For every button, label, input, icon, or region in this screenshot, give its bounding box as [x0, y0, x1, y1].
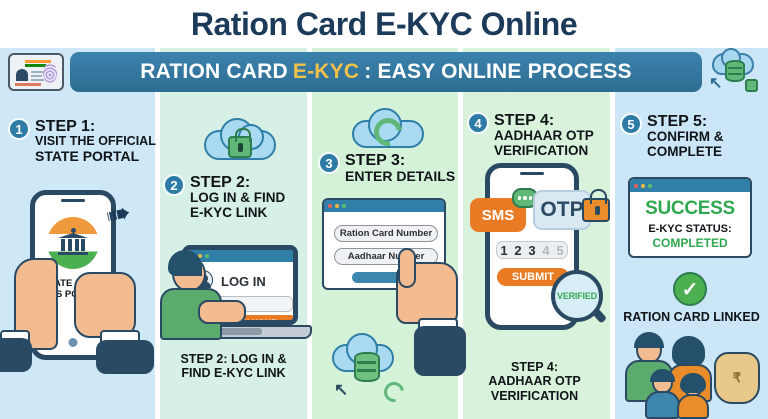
banner-text-after: : EASY ONLINE PROCESS	[364, 60, 632, 84]
step-3-title-line1: STEP 3:	[345, 152, 455, 169]
step-1-title-line2: VISIT THE OFFICIAL	[35, 135, 156, 149]
step-1-badge: 1	[8, 118, 30, 140]
maximize-dot-icon	[648, 184, 652, 188]
phone-notch	[520, 172, 544, 175]
browser-titlebar	[187, 250, 293, 262]
check-circle-icon: ✓	[673, 272, 707, 306]
step-2-person-hair	[168, 250, 202, 276]
verified-label: VERIFIED	[557, 291, 597, 301]
step-2-header: 2 STEP 2: LOG IN & FIND E-KYC LINK	[163, 174, 305, 220]
phone-notch	[61, 199, 85, 202]
step-1-right-hand	[74, 272, 136, 338]
step-3-title: STEP 3: ENTER DETAILS	[345, 152, 455, 184]
step-4-title-line3: VERIFICATION	[494, 144, 594, 159]
otp-digit-5: 5	[553, 243, 567, 258]
step-2-title-line3: E-KYC LINK	[190, 206, 285, 221]
ekyc-status-value: COMPLETED	[634, 236, 746, 250]
step-5-header: 5 STEP 5: CONFIRM & COMPLETE	[620, 113, 766, 159]
ration-card-number-input[interactable]: Ration Card Number	[334, 225, 438, 242]
family-boy-body	[645, 391, 680, 419]
cloud-lock-icon	[204, 120, 276, 172]
page-title: Ration Card E-KYC Online	[0, 0, 768, 48]
family-girl-hair	[680, 373, 706, 393]
step-1-title-line1: STEP 1:	[35, 118, 156, 135]
success-window: SUCCESS E-KYC STATUS: COMPLETED	[628, 177, 752, 258]
cloud-database-sync-icon: ↖	[708, 51, 760, 93]
otp-digit-2: 2	[511, 243, 525, 258]
step-3-badge: 3	[318, 152, 340, 174]
banner-text-before: RATION CARD	[140, 60, 288, 84]
otp-digit-3: 3	[525, 243, 539, 258]
step-4-caption-line3: VERIFICATION	[491, 389, 578, 403]
step-5-title-line3: COMPLETE	[647, 145, 724, 160]
close-dot-icon	[634, 184, 638, 188]
step-5-title: STEP 5: CONFIRM & COMPLETE	[647, 113, 724, 159]
banner-title: RATION CARD E-KYC : EASY ONLINE PROCESS	[70, 52, 702, 92]
success-heading: SUCCESS	[634, 198, 746, 220]
step-4-badge: 4	[467, 112, 489, 134]
ekyc-status-label: E-KYC STATUS:	[634, 223, 746, 235]
rupee-money-bag-icon: ₹	[714, 352, 760, 404]
step-2-title-line2: LOG IN & FIND	[190, 191, 285, 206]
step-5-title-line1: STEP 5:	[647, 113, 724, 130]
family-girl-body	[677, 394, 709, 419]
step-5-title-line2: CONFIRM &	[647, 130, 724, 145]
step-4-header: 4 STEP 4: AADHAAR OTP VERIFICATION	[467, 112, 611, 158]
step-3-header: 3 STEP 3: ENTER DETAILS	[318, 152, 460, 184]
id-card-fingerprint-icon	[8, 53, 64, 91]
step-2-title-line1: STEP 2:	[190, 174, 285, 191]
otp-digit-1: 1	[497, 243, 511, 258]
otp-digit-4: 4	[539, 243, 553, 258]
ration-card-linked-label: RATION CARD LINKED	[0, 310, 768, 324]
banner-highlight: E-KYC	[293, 60, 359, 84]
step-1-title: STEP 1: VISIT THE OFFICIAL STATE PORTAL	[35, 118, 156, 164]
phone-home-button[interactable]	[69, 338, 78, 347]
minimize-dot-icon	[641, 184, 645, 188]
step-5-badge: 5	[620, 113, 642, 135]
browser-titlebar	[630, 179, 750, 192]
family-mother-hair	[672, 336, 705, 366]
rupee-symbol: ₹	[733, 370, 741, 386]
close-dot-icon	[328, 204, 332, 208]
step-3-title-line2: ENTER DETAILS	[345, 169, 455, 184]
browser-titlebar	[324, 200, 444, 212]
maximize-dot-icon	[342, 204, 346, 208]
banner: RATION CARD E-KYC : EASY ONLINE PROCESS …	[0, 48, 768, 96]
padlock-icon	[582, 198, 610, 222]
step-2-title: STEP 2: LOG IN & FIND E-KYC LINK	[190, 174, 285, 220]
step-2-badge: 2	[163, 174, 185, 196]
step-2-trackpad	[216, 328, 262, 335]
step-4-title: STEP 4: AADHAAR OTP VERIFICATION	[494, 112, 594, 158]
step-4-caption-line1: STEP 4:	[511, 360, 558, 374]
step-4-caption-line2: AADHAAR OTP	[488, 374, 580, 388]
maximize-dot-icon	[205, 254, 209, 258]
step-4-title-line1: STEP 4:	[494, 112, 594, 129]
minimize-dot-icon	[335, 204, 339, 208]
login-heading: LOG IN	[221, 274, 266, 289]
step-1-header: 1 STEP 1: VISIT THE OFFICIAL STATE PORTA…	[8, 118, 156, 164]
step-3-index-finger	[398, 248, 416, 288]
step-4-title-line2: AADHAAR OTP	[494, 129, 594, 144]
otp-input-boxes[interactable]: 1 2 3 4 5	[496, 241, 568, 259]
step-1-title-line3: STATE PORTAL	[35, 149, 156, 164]
